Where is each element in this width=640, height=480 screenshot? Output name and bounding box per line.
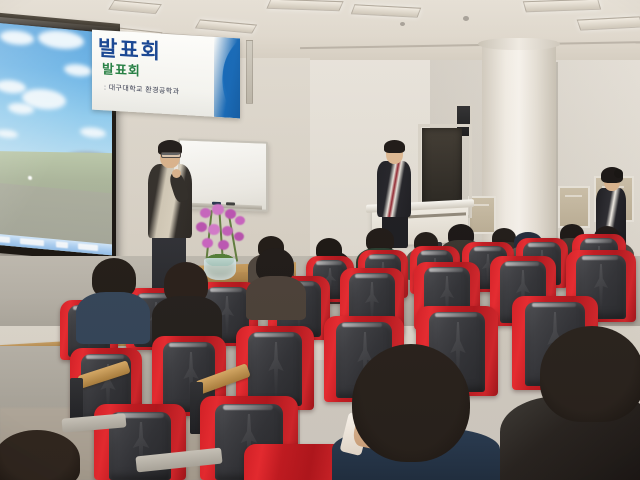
column-cap — [478, 38, 560, 50]
seat-highlight — [421, 251, 447, 255]
seat-highlight — [532, 303, 576, 307]
audience-body — [76, 292, 150, 344]
notice-board — [558, 186, 590, 228]
orchid-bloom — [196, 222, 207, 232]
auditorium-photo: 발표회 발표회 : 대구대학교 환경공학과 — [0, 0, 640, 480]
presenter-hand — [172, 169, 181, 178]
audience-body — [246, 276, 306, 320]
wall-mounted-strip — [246, 40, 253, 104]
banner-title-text: 발표회 — [98, 38, 162, 63]
ceiling-fixture — [463, 16, 469, 21]
foreground-center-hair — [352, 344, 470, 462]
seat-highlight — [86, 355, 124, 359]
ceiling-fixture — [400, 22, 405, 26]
orchid-bloom — [222, 226, 233, 236]
taskbar-item — [56, 241, 68, 248]
seat-highlight — [223, 405, 273, 410]
orchid-bloom — [202, 238, 213, 248]
glasses-icon — [161, 152, 181, 158]
seat-highlight — [435, 313, 477, 317]
event-banner: 발표회 발표회 : 대구대학교 환경공학과 — [92, 30, 240, 119]
orchid-bloom — [208, 224, 220, 235]
doorway-opening — [422, 128, 462, 208]
seat-highlight — [429, 268, 463, 272]
orchid-bloom — [212, 204, 224, 215]
orchid-bloom — [225, 209, 236, 219]
seat-highlight — [342, 323, 382, 327]
seat-highlight — [528, 243, 555, 247]
notice-line — [565, 195, 582, 197]
banner-subtitle-text: 발표회 — [102, 62, 141, 77]
seat-highlight — [582, 256, 618, 260]
standing-woman-hair-bun — [614, 169, 623, 178]
seat-highlight — [474, 247, 501, 251]
standing-man-suit — [377, 161, 411, 217]
notice-line — [474, 204, 489, 206]
taskbar-item — [78, 243, 98, 251]
orchid-bloom — [218, 240, 229, 250]
seat-highlight — [355, 274, 388, 278]
taskbar-item — [20, 238, 44, 246]
orchid-bloom — [200, 208, 211, 218]
orchid-vase — [204, 258, 236, 280]
seat-highlight — [254, 333, 294, 337]
seat-highlight — [505, 262, 539, 266]
orchid-bloom — [235, 216, 245, 225]
seat-highlight — [169, 343, 207, 347]
orchid-bloom — [234, 232, 244, 241]
seat-highlight — [585, 239, 612, 243]
seat-highlight — [369, 255, 395, 259]
slide-highlight — [28, 176, 32, 180]
seat-highlight — [210, 288, 242, 292]
standing-man-hair — [384, 140, 405, 153]
taskbar-item — [0, 236, 10, 243]
seat-highlight — [316, 261, 342, 265]
foreground-right-hair — [540, 326, 640, 422]
banner-blue-edge — [214, 37, 240, 119]
